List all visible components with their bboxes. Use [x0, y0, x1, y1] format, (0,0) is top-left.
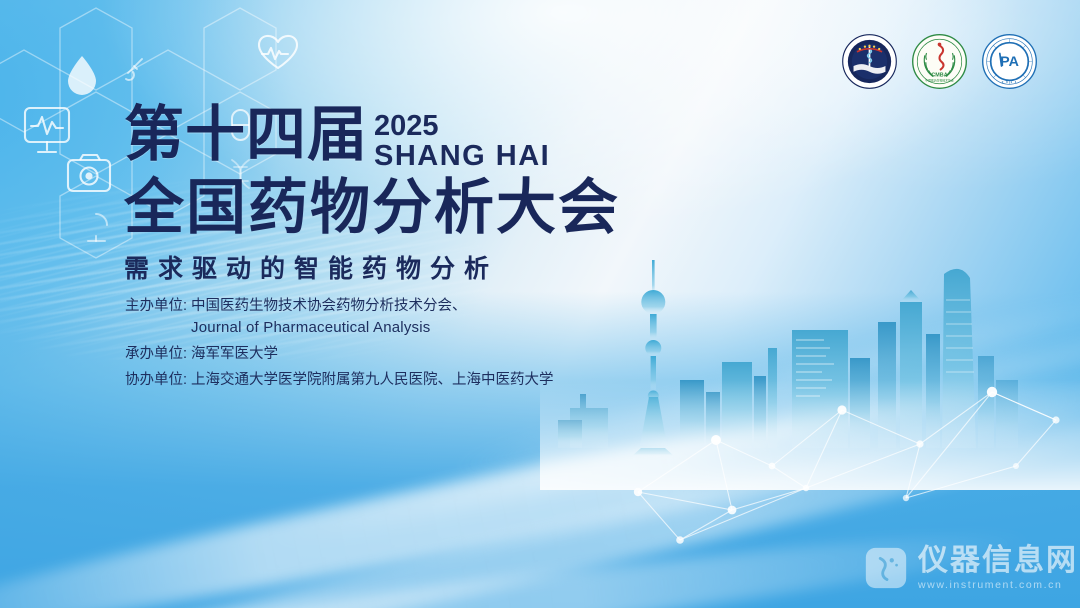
svg-text:2 0 1 1: 2 0 1 1 [1002, 80, 1018, 84]
svg-text:CMBA: CMBA [931, 72, 947, 78]
organizer-value-cn: 海军军医大学 [191, 344, 278, 365]
svg-text:中国医药生物技术协会: 中国医药生物技术协会 [925, 78, 954, 82]
site-watermark: 仪器信息网 www.instrument.com.cn [862, 544, 1078, 592]
conference-tagline: 需求驱动的智能药物分析 [124, 249, 744, 285]
svg-text:PA: PA [1000, 54, 1019, 70]
edition-title: 第十四届 [124, 104, 368, 166]
association-logo-row: CMBA 中国医药生物技术协会 PA 2 0 1 1 [841, 33, 1038, 90]
heart-pulse-icon [259, 36, 297, 68]
organizer-row-coorganizer: 协办单位: 上海交通大学医学院附属第九人民医院、上海中医药大学 [125, 370, 554, 391]
year-label: 2025 [374, 112, 550, 141]
title-row-primary: 第十四届 2025 SHANG HAI [124, 104, 744, 171]
organizer-value: 中国医药生物技术协会药物分析技术分会、 Journal of Pharmaceu… [191, 296, 467, 339]
organizer-label: 协办单位: [125, 370, 187, 391]
ecg-monitor-icon [25, 108, 69, 152]
network-node-graph [620, 370, 1080, 550]
watermark-title: 仪器信息网 [918, 546, 1078, 576]
organizer-value-cn: 上海交通大学医学院附属第九人民医院、上海中医药大学 [191, 370, 554, 391]
organizer-label: 承办单位: [125, 344, 187, 365]
jpa-logo: PA 2 0 1 1 [981, 33, 1038, 90]
conference-banner: CMBA 中国医药生物技术协会 PA 2 0 1 1 第十四届 2025 SHA… [0, 0, 1080, 608]
english-subtitle-block: 2025 SHANG HAI [374, 112, 550, 171]
organizer-row-undertaker: 承办单位: 海军军医大学 [125, 344, 554, 365]
organizer-value-en: Journal of Pharmaceutical Analysis [191, 319, 430, 336]
naval-medical-university-logo [841, 33, 898, 90]
watermark-url: www.instrument.com.cn [918, 580, 1078, 591]
organizer-list: 主办单位: 中国医药生物技术协会药物分析技术分会、 Journal of Pha… [125, 296, 554, 392]
organizer-label: 主办单位: [125, 296, 187, 317]
city-english-label: SHANG HAI [374, 142, 550, 171]
water-drop-icon [68, 56, 96, 95]
microscope-icon [88, 214, 107, 241]
organizer-value-cn: 中国医药生物技术协会药物分析技术分会、 [191, 298, 467, 314]
camera-icon [68, 155, 110, 191]
conference-main-title: 全国药物分析大会 [124, 173, 744, 243]
organizer-row-host: 主办单位: 中国医药生物技术协会药物分析技术分会、 Journal of Pha… [125, 296, 554, 339]
headline-block: 第十四届 2025 SHANG HAI 全国药物分析大会 需求驱动的智能药物分析 [124, 104, 744, 285]
watermark-text: 仪器信息网 www.instrument.com.cn [918, 546, 1078, 591]
instrument-logo-icon [862, 544, 910, 592]
cmba-logo: CMBA 中国医药生物技术协会 [911, 33, 968, 90]
